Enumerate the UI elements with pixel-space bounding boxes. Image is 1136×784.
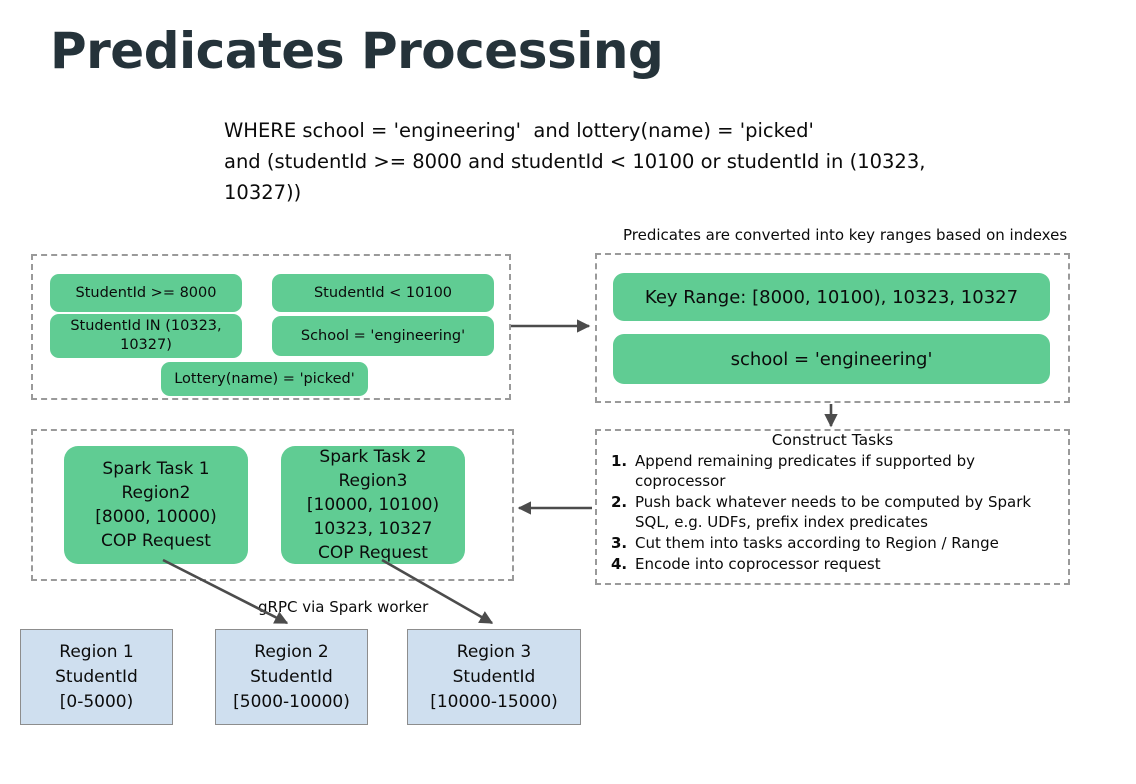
key-ranges-caption: Predicates are converted into key ranges… [623,226,1067,244]
sql-line-1: WHERE school = 'engineering' and lottery… [224,115,1034,146]
region-box-label: Region 2 StudentId [5000-10000) [233,640,350,715]
predicate-pill-studentid-gte[interactable]: StudentId >= 8000 [50,274,242,312]
list-item: 1. Append remaining predicates if suppor… [597,451,1068,491]
spark-task-1[interactable]: Spark Task 1 Region2 [8000, 10000) COP R… [64,446,248,564]
list-item-text: Append remaining predicates if supported… [635,451,1068,491]
list-item: 3. Cut them into tasks according to Regi… [597,533,1068,553]
list-item-number: 1. [597,451,635,491]
predicate-pill-label: Lottery(name) = 'picked' [174,370,355,389]
predicate-pill-label: StudentId IN (10323, 10327) [70,317,221,355]
list-item: 4. Encode into coprocessor request [597,554,1068,574]
construct-tasks-container: Construct Tasks 1. Append remaining pred… [595,429,1070,585]
spark-task-label: Spark Task 1 Region2 [8000, 10000) COP R… [95,457,216,553]
predicate-pill-studentid-in[interactable]: StudentId IN (10323, 10327) [50,314,242,358]
list-item: 2. Push back whatever needs to be comput… [597,492,1068,532]
list-item-text: Encode into coprocessor request [635,554,1068,574]
region-box-2[interactable]: Region 2 StudentId [5000-10000) [215,629,368,725]
sql-where-clause: WHERE school = 'engineering' and lottery… [224,115,1034,208]
predicate-pill-studentid-lt[interactable]: StudentId < 10100 [272,274,494,312]
construct-tasks-list: 1. Append remaining predicates if suppor… [597,451,1068,574]
list-item-number: 4. [597,554,635,574]
predicate-pill-label: School = 'engineering' [301,327,465,346]
key-range-pill-label: Key Range: [8000, 10100), 10323, 10327 [645,288,1018,307]
region-box-1[interactable]: Region 1 StudentId [0-5000) [20,629,173,725]
spark-task-2[interactable]: Spark Task 2 Region3 [10000, 10100) 1032… [281,446,465,564]
sql-line-2: and (studentId >= 8000 and studentId < 1… [224,146,1034,177]
predicate-pill-school[interactable]: School = 'engineering' [272,316,494,356]
predicate-pill-label: StudentId < 10100 [314,284,452,303]
grpc-transport-label: gRPC via Spark worker [258,598,428,616]
sql-line-3: 10327)) [224,177,1034,208]
region-box-3[interactable]: Region 3 StudentId [10000-15000) [407,629,581,725]
page-title: Predicates Processing [50,22,663,80]
school-filter-pill[interactable]: school = 'engineering' [613,334,1050,384]
key-range-pill[interactable]: Key Range: [8000, 10100), 10323, 10327 [613,273,1050,321]
list-item-number: 3. [597,533,635,553]
list-item-text: Push back whatever needs to be computed … [635,492,1068,532]
region-box-label: Region 1 StudentId [0-5000) [55,640,138,715]
predicate-pill-label: StudentId >= 8000 [76,284,217,303]
school-filter-pill-label: school = 'engineering' [731,350,933,369]
spark-task-label: Spark Task 2 Region3 [10000, 10100) 1032… [307,445,439,565]
slide-canvas: Predicates Processing WHERE school = 'en… [0,0,1136,784]
list-item-text: Cut them into tasks according to Region … [635,533,1068,553]
list-item-number: 2. [597,492,635,532]
predicate-pill-lottery[interactable]: Lottery(name) = 'picked' [161,362,368,396]
construct-tasks-title: Construct Tasks [597,431,1068,449]
region-box-label: Region 3 StudentId [10000-15000) [430,640,558,715]
